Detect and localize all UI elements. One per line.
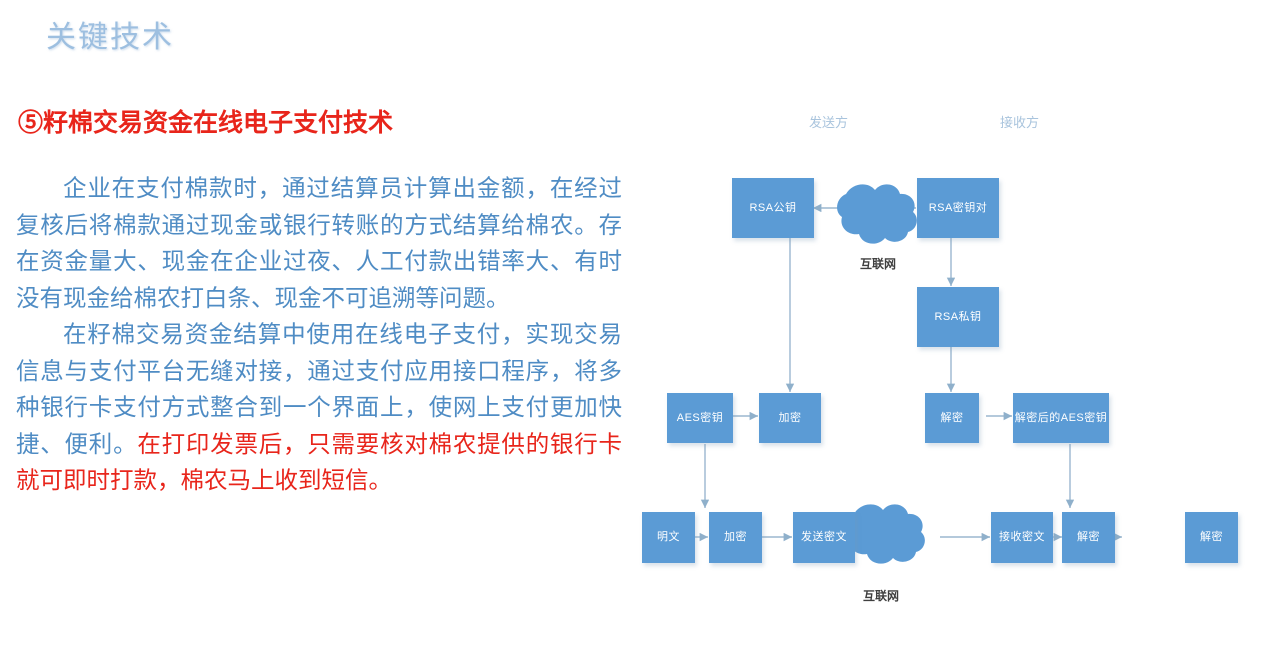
node-rsa-public-key[interactable]: RSA公钥 — [732, 178, 814, 238]
slide-canvas: 关键技术 ⑤籽棉交易资金在线电子支付技术 企业在支付棉款时，通过结算员计算出金额… — [0, 0, 1270, 654]
cloud-label-internet-top: 互联网 — [860, 255, 896, 272]
node-decrypted-aes-key[interactable]: 解密后的AES密钥 — [1013, 393, 1109, 443]
node-receive-ciphertext[interactable]: 接收密文 — [991, 512, 1053, 563]
node-plaintext[interactable]: 明文 — [642, 512, 695, 563]
encryption-flow-diagram: 发送方 接收方 互联网 互联网 RSA公钥 RSA密钥对 RSA私钥 AES密钥… — [620, 90, 1270, 650]
paragraph-2: 在籽棉交易资金结算中使用在线电子支付，实现交易信息与支付平台无缝对接，通过支付应… — [16, 316, 622, 499]
cloud-shape-group — [837, 184, 925, 563]
node-encrypt-data[interactable]: 加密 — [709, 512, 762, 563]
diagram-connectors — [620, 90, 1270, 650]
node-decrypt-data[interactable]: 解密 — [1062, 512, 1115, 563]
node-decrypt-result[interactable]: 解密 — [1185, 512, 1238, 563]
paragraph-1: 企业在支付棉款时，通过结算员计算出金额，在经过复核后将棉款通过现金或银行转账的方… — [16, 170, 622, 316]
page-title: 关键技术 — [46, 12, 174, 56]
column-header-sender: 发送方 — [809, 112, 848, 131]
column-header-receiver: 接收方 — [1000, 112, 1039, 131]
node-rsa-key-pair[interactable]: RSA密钥对 — [917, 178, 999, 238]
node-send-ciphertext[interactable]: 发送密文 — [793, 512, 855, 563]
cloud-label-internet-bottom: 互联网 — [863, 587, 899, 604]
section-heading: ⑤籽棉交易资金在线电子支付技术 — [18, 103, 393, 139]
node-encrypt-key[interactable]: 加密 — [759, 393, 821, 443]
node-rsa-private-key[interactable]: RSA私钥 — [917, 287, 999, 347]
body-text-block: 企业在支付棉款时，通过结算员计算出金额，在经过复核后将棉款通过现金或银行转账的方… — [16, 170, 622, 499]
node-decrypt-key[interactable]: 解密 — [925, 393, 979, 443]
node-aes-key[interactable]: AES密钥 — [667, 393, 733, 443]
